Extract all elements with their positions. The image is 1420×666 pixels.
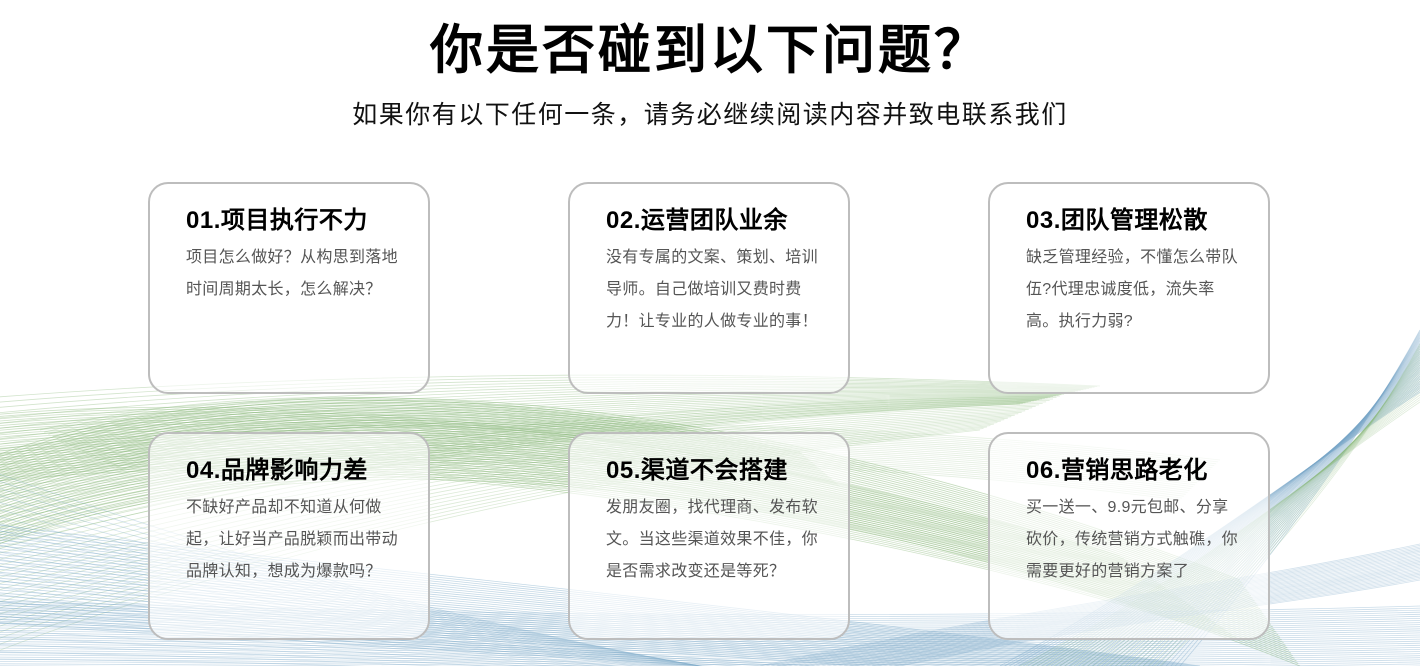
- card-body-04: 不缺好产品却不知道从何做起，让好当产品脱颖而出带动品牌认知，想成为爆款吗？: [186, 492, 402, 588]
- card-title-03: 03.团队管理松散: [1026, 206, 1242, 236]
- problem-card-02[interactable]: 02.运营团队业余 没有专属的文案、策划、培训导师。自己做培训又费时费力！让专业…: [568, 182, 850, 394]
- problem-card-05[interactable]: 05.渠道不会搭建 发朋友圈，找代理商、发布软文。当这些渠道效果不佳，你是否需求…: [568, 432, 850, 640]
- page-subtitle: 如果你有以下任何一条，请务必继续阅读内容并致电联系我们: [0, 100, 1420, 130]
- card-title-06: 06.营销思路老化: [1026, 456, 1242, 486]
- card-body-05: 发朋友圈，找代理商、发布软文。当这些渠道效果不佳，你是否需求改变还是等死？: [606, 492, 822, 588]
- problem-card-grid: 01.项目执行不力 项目怎么做好？从构思到落地时间周期太长，怎么解决？ 02.运…: [148, 182, 1278, 640]
- problem-card-04[interactable]: 04.品牌影响力差 不缺好产品却不知道从何做起，让好当产品脱颖而出带动品牌认知，…: [148, 432, 430, 640]
- problem-card-06[interactable]: 06.营销思路老化 买一送一、9.9元包邮、分享砍价，传统营销方式触礁，你需要更…: [988, 432, 1270, 640]
- card-body-02: 没有专属的文案、策划、培训导师。自己做培训又费时费力！让专业的人做专业的事！: [606, 242, 822, 338]
- card-title-01: 01.项目执行不力: [186, 206, 402, 236]
- card-title-05: 05.渠道不会搭建: [606, 456, 822, 486]
- problem-card-01[interactable]: 01.项目执行不力 项目怎么做好？从构思到落地时间周期太长，怎么解决？: [148, 182, 430, 394]
- poster-content: 你是否碰到以下问题？ 如果你有以下任何一条，请务必继续阅读内容并致电联系我们 0…: [0, 0, 1420, 666]
- problem-card-03[interactable]: 03.团队管理松散 缺乏管理经验，不懂怎么带队伍?代理忠诚度低，流失率高。执行力…: [988, 182, 1270, 394]
- header: 你是否碰到以下问题？ 如果你有以下任何一条，请务必继续阅读内容并致电联系我们: [0, 0, 1420, 130]
- card-title-02: 02.运营团队业余: [606, 206, 822, 236]
- card-body-01: 项目怎么做好？从构思到落地时间周期太长，怎么解决？: [186, 242, 402, 306]
- card-body-06: 买一送一、9.9元包邮、分享砍价，传统营销方式触礁，你需要更好的营销方案了: [1026, 492, 1242, 588]
- poster-page: 你是否碰到以下问题？ 如果你有以下任何一条，请务必继续阅读内容并致电联系我们 0…: [0, 0, 1420, 666]
- card-body-03: 缺乏管理经验，不懂怎么带队伍?代理忠诚度低，流失率高。执行力弱?: [1026, 242, 1242, 338]
- card-title-04: 04.品牌影响力差: [186, 456, 402, 486]
- page-title: 你是否碰到以下问题？: [0, 22, 1420, 80]
